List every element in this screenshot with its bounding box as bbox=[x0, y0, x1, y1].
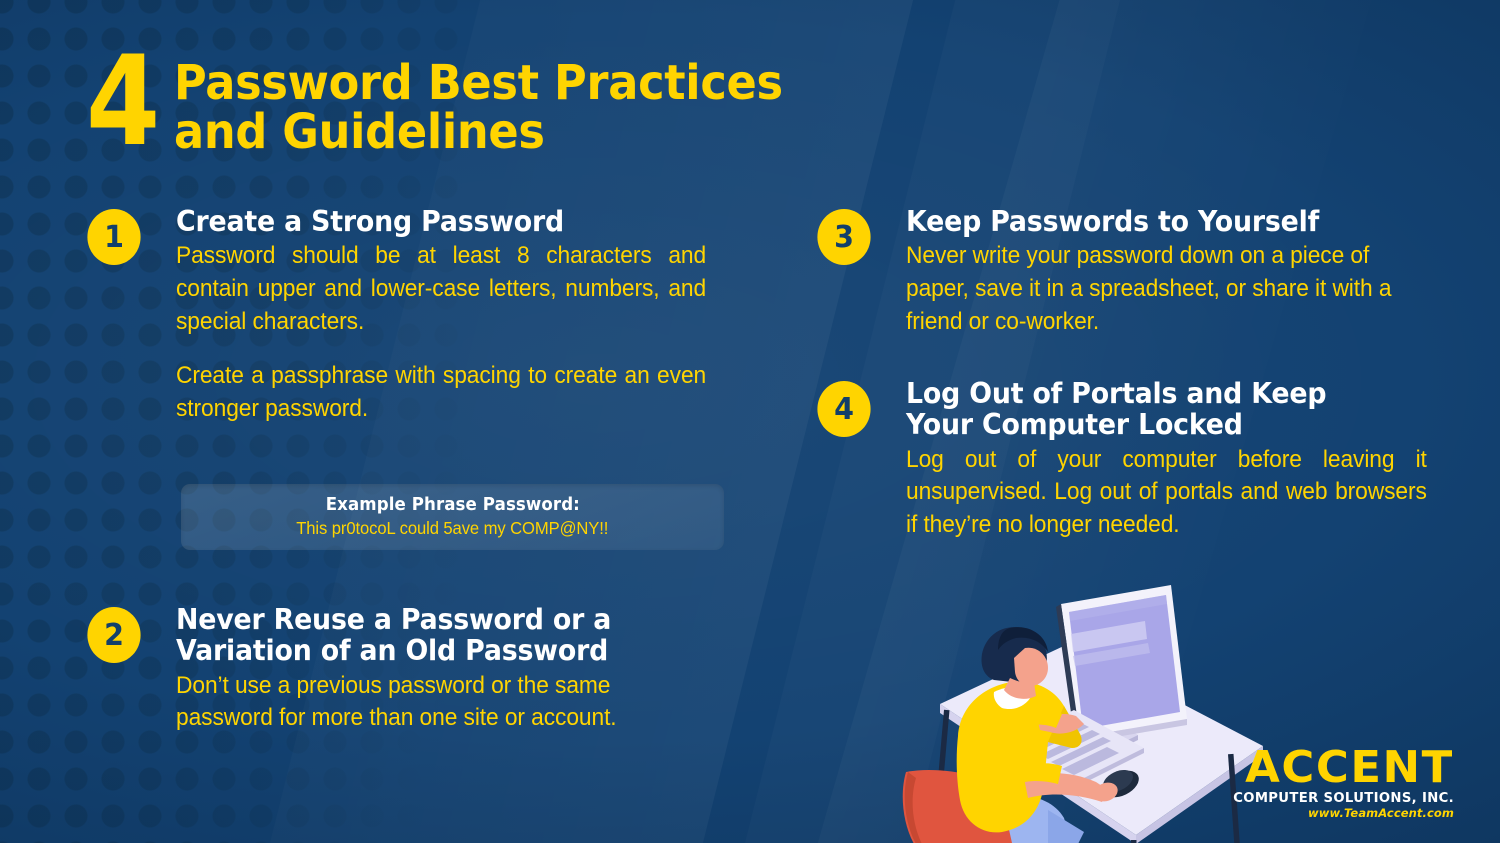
practice-item-2-body: Never Reuse a Password or a Variation of… bbox=[176, 604, 746, 735]
example-password-label: Example Phrase Password: bbox=[325, 495, 579, 515]
header-number: 4 bbox=[86, 52, 157, 154]
logo-url: www.TeamAccent.com bbox=[1233, 808, 1454, 820]
example-password-box: Example Phrase Password: This pr0tocoL c… bbox=[181, 484, 724, 550]
practice-item-1-paragraph-2: Create a passphrase with spacing to crea… bbox=[176, 360, 706, 425]
practice-item-4-title: Log Out of Portals and Keep Your Compute… bbox=[906, 378, 1432, 441]
left-column-lower: 2 Never Reuse a Password or a Variation … bbox=[86, 604, 746, 735]
practice-item-4-body: Log Out of Portals and Keep Your Compute… bbox=[906, 378, 1466, 541]
logo-wordmark: ACCENT bbox=[1229, 746, 1454, 790]
practice-item-2-paragraph-1: Don’t use a previous password or the sam… bbox=[176, 670, 706, 735]
practice-item-3-body: Keep Passwords to Yourself Never write y… bbox=[906, 206, 1466, 338]
infographic-poster: 4 Password Best Practices and Guidelines… bbox=[0, 0, 1500, 843]
logo-tagline: COMPUTER SOLUTIONS, INC. bbox=[1233, 792, 1454, 805]
badge-number-1: 1 bbox=[87, 209, 140, 265]
practice-item-3-paragraph-1: Never write your password down on a piec… bbox=[906, 240, 1427, 338]
person-at-desk-illustration bbox=[898, 582, 1263, 843]
practice-item-2-title: Never Reuse a Password or a Variation of… bbox=[176, 604, 712, 667]
practice-item-2: 2 Never Reuse a Password or a Variation … bbox=[86, 604, 746, 735]
example-password-value: This pr0tocoL could 5ave my COMP@NY!! bbox=[296, 518, 608, 539]
practice-item-1-title: Create a Strong Password bbox=[176, 206, 712, 237]
right-column: 3 Keep Passwords to Yourself Never write… bbox=[816, 206, 1466, 338]
left-column: 1 Create a Strong Password Password shou… bbox=[86, 206, 746, 425]
practice-item-1: 1 Create a Strong Password Password shou… bbox=[86, 206, 746, 425]
badge-number-3: 3 bbox=[817, 209, 870, 265]
practice-item-3: 3 Keep Passwords to Yourself Never write… bbox=[816, 206, 1466, 338]
page-title: Password Best Practices and Guidelines bbox=[174, 59, 783, 157]
practice-item-1-body: Create a Strong Password Password should… bbox=[176, 206, 746, 425]
practice-item-4: 4 Log Out of Portals and Keep Your Compu… bbox=[816, 378, 1466, 541]
badge-number-2: 2 bbox=[87, 607, 140, 663]
practice-item-3-title: Keep Passwords to Yourself bbox=[906, 206, 1432, 237]
right-column-lower: 4 Log Out of Portals and Keep Your Compu… bbox=[816, 378, 1466, 541]
practice-item-4-paragraph-1: Log out of your computer before leaving … bbox=[906, 444, 1427, 542]
accent-logo: ACCENT COMPUTER SOLUTIONS, INC. www.Team… bbox=[1233, 746, 1454, 819]
poster-header: 4 Password Best Practices and Guidelines bbox=[86, 52, 829, 157]
badge-number-4: 4 bbox=[817, 381, 870, 437]
practice-item-1-paragraph-1: Password should be at least 8 characters… bbox=[176, 240, 706, 338]
